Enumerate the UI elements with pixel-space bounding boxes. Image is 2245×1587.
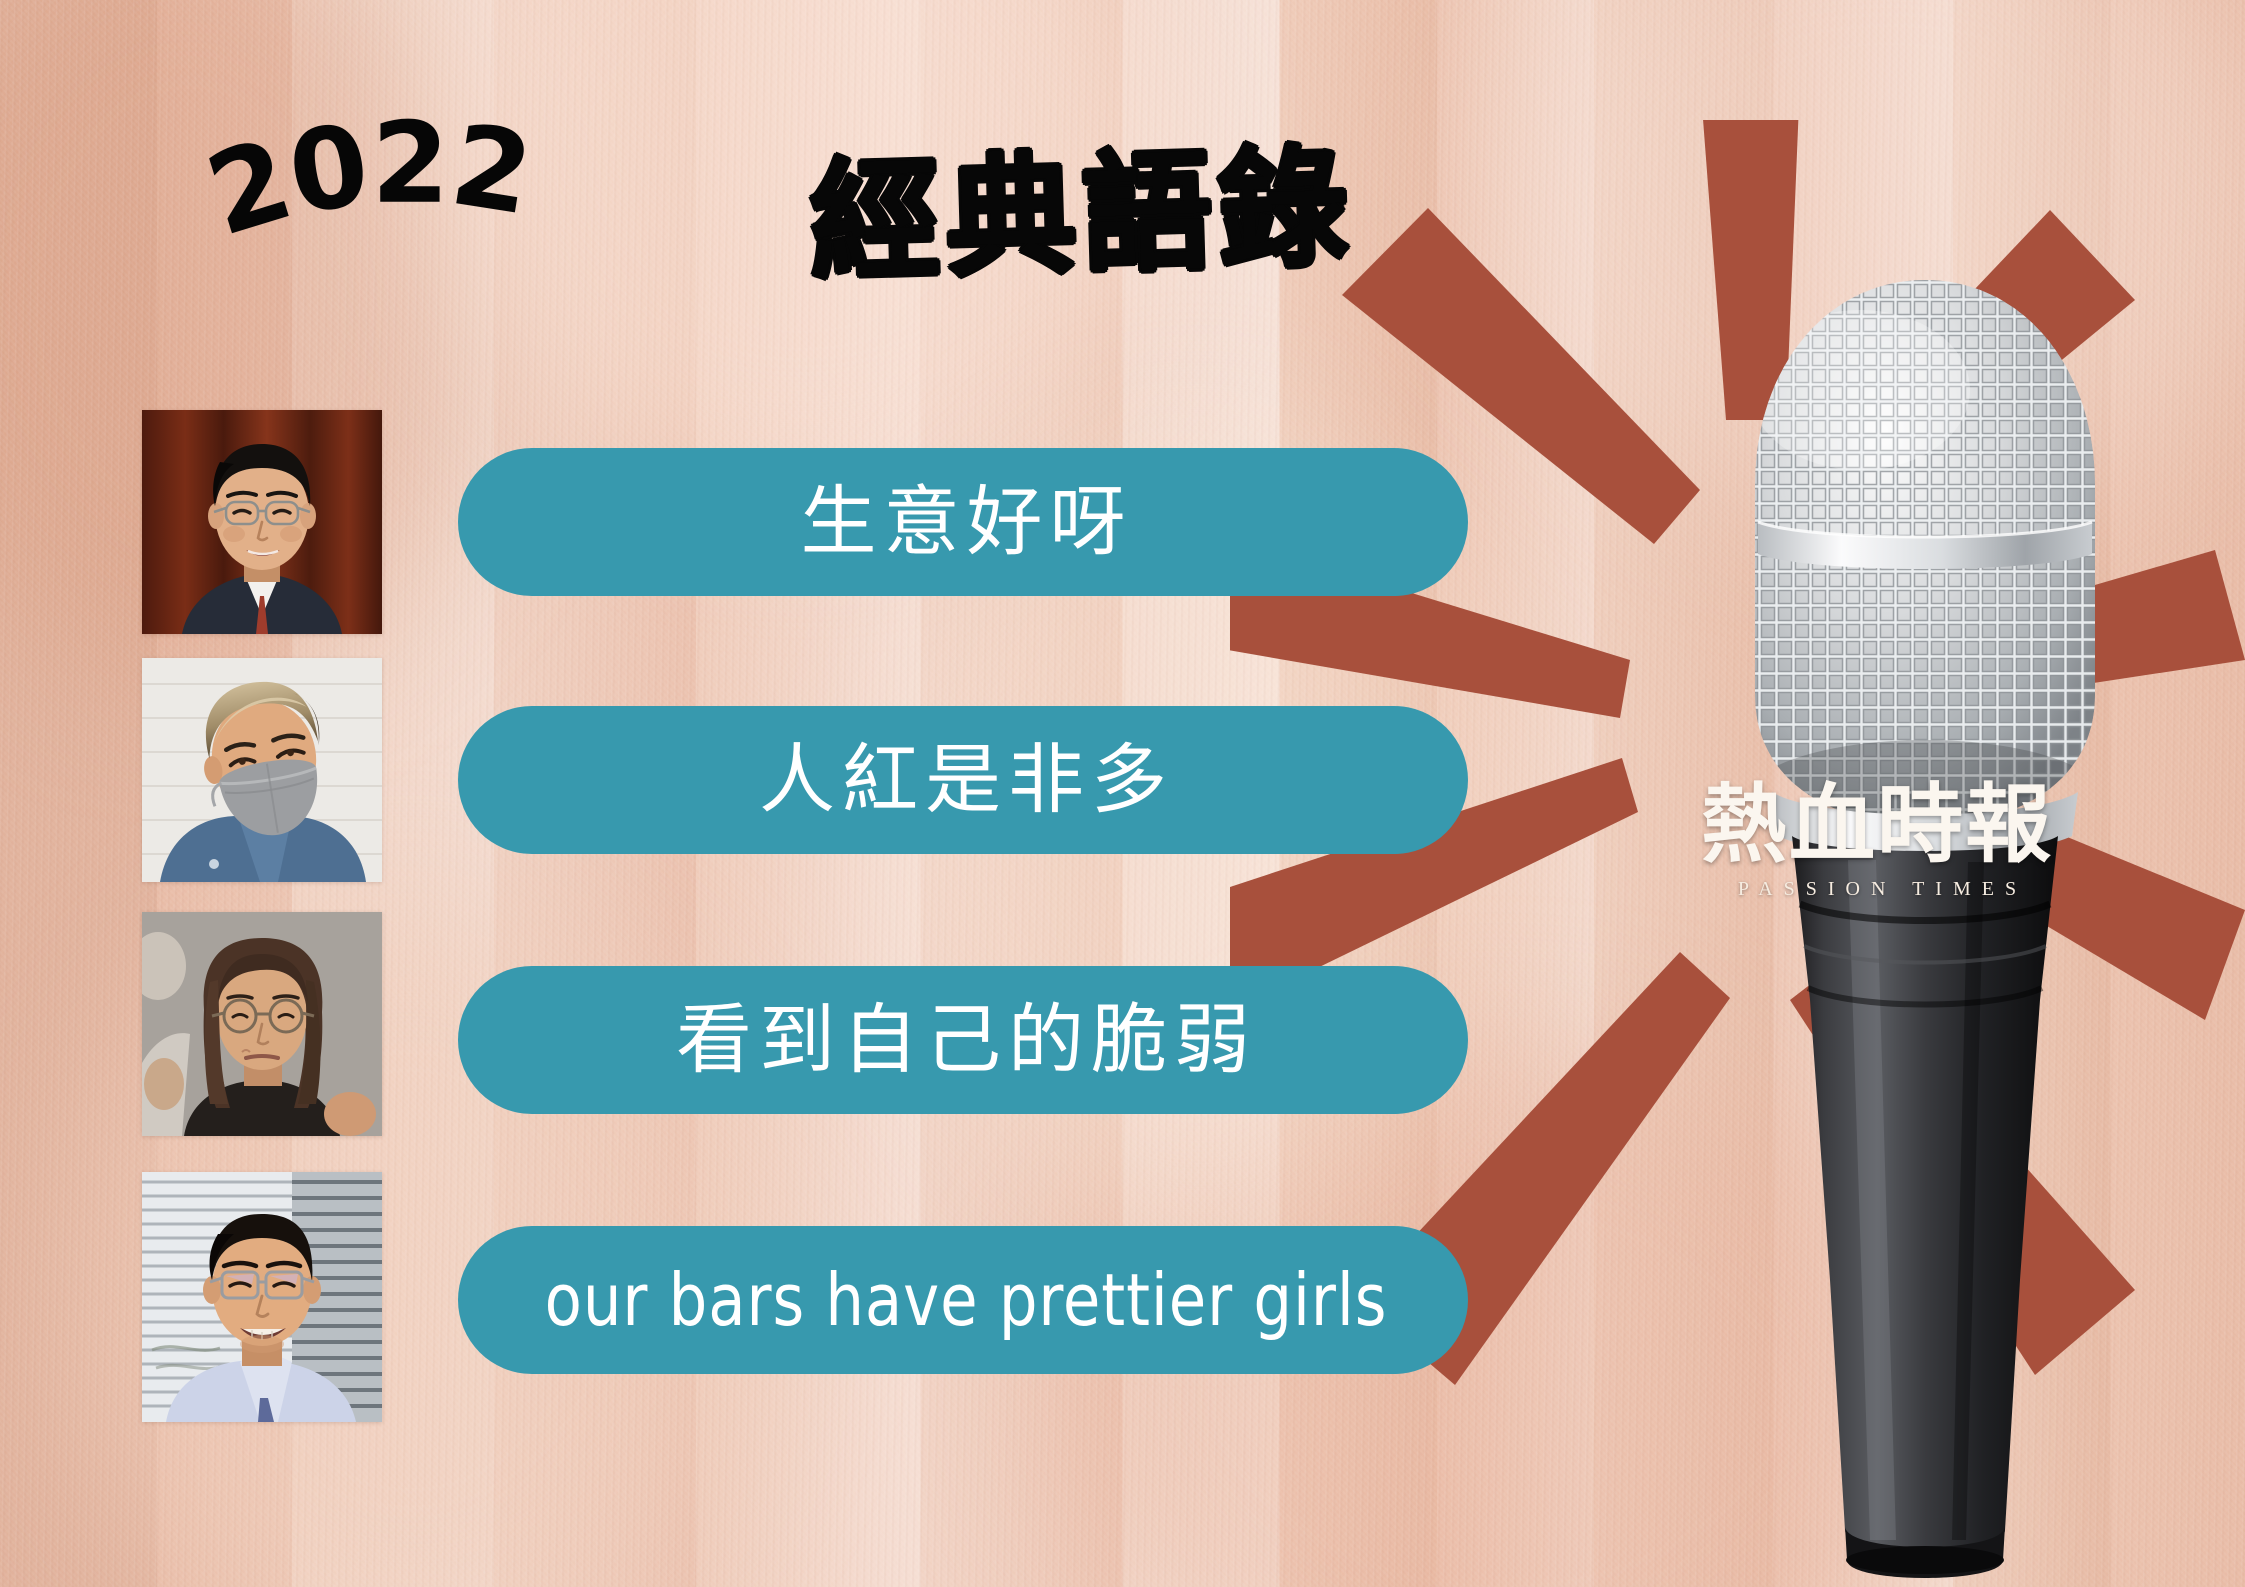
poster-canvas: 熱血時報 PASSION TIMES 2022 經典語錄 xyxy=(0,0,2245,1587)
year-headline: 2022 xyxy=(140,140,610,310)
quote-pill[interactable]: 人紅是非多 xyxy=(458,706,1468,854)
speaker-portrait xyxy=(142,912,382,1136)
microphone-icon xyxy=(1700,240,2150,1587)
quote-text: 生意好呀 xyxy=(794,484,1133,560)
quote-pill[interactable]: our bars have prettier girls xyxy=(458,1226,1468,1374)
page-title: 經典語錄 xyxy=(808,142,1355,287)
quote-text: 人紅是非多 xyxy=(752,742,1174,818)
quote-pill[interactable]: 生意好呀 xyxy=(458,448,1468,596)
speaker-portrait xyxy=(142,1172,382,1422)
quote-text: 看到自己的脆弱 xyxy=(669,1002,1257,1078)
quote-text: our bars have prettier girls xyxy=(538,1264,1387,1336)
quote-pill[interactable]: 看到自己的脆弱 xyxy=(458,966,1468,1114)
speaker-portrait xyxy=(142,410,382,634)
speaker-portrait xyxy=(142,658,382,882)
